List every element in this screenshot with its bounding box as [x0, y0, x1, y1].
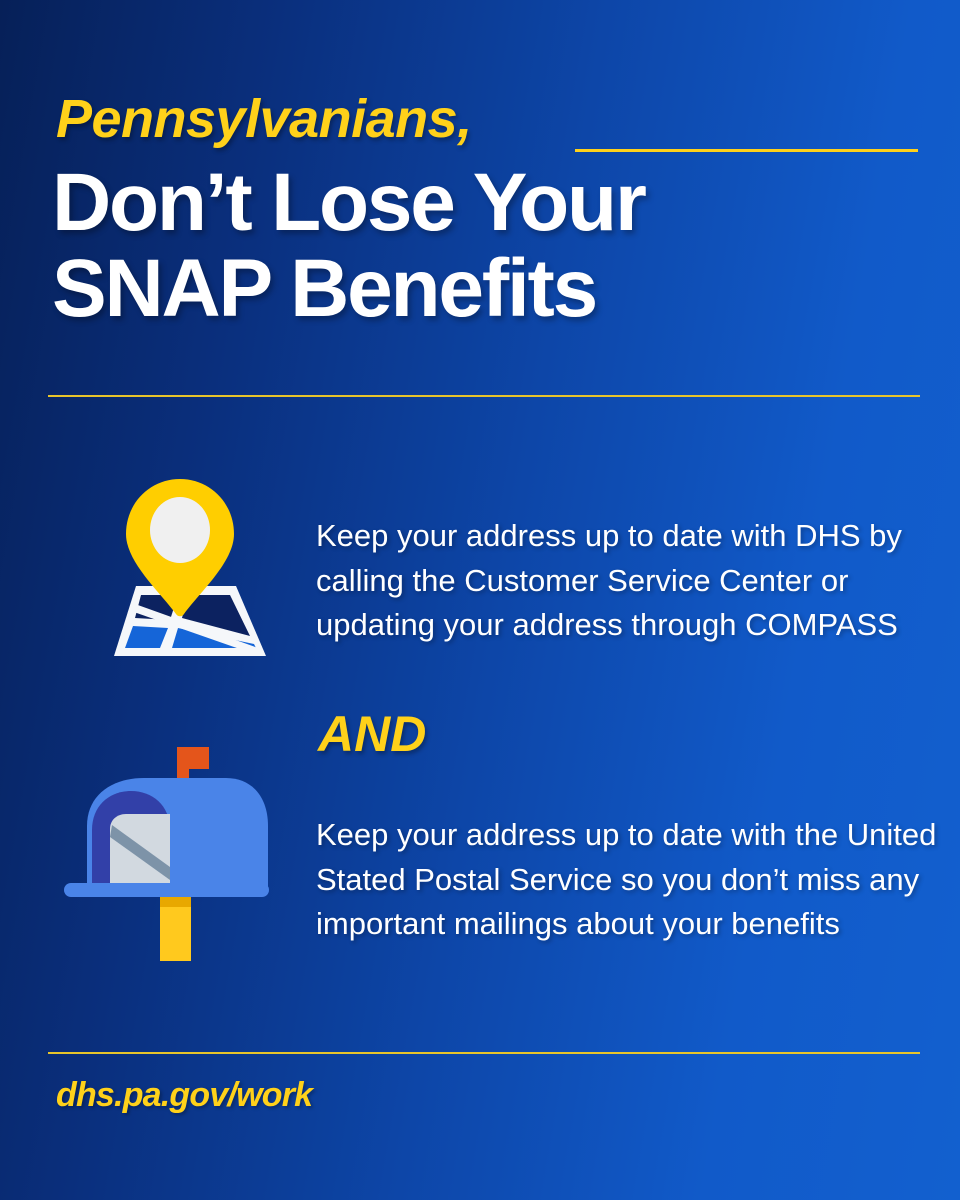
- snap-benefits-poster: Pennsylvanians, Don’t Lose Your SNAP Ben…: [0, 0, 960, 1200]
- headline-line-1: Don’t Lose Your: [52, 160, 932, 246]
- section-2-line-3: important mailings about your benefits: [316, 902, 936, 947]
- and-connector-label: AND: [318, 705, 426, 763]
- kicker-row: Pennsylvanians,: [56, 92, 926, 158]
- headline-line-2: SNAP Benefits: [52, 246, 932, 332]
- section-1-text: Keep your address up to date with DHS by…: [316, 514, 902, 648]
- mailbox-icon: [56, 733, 288, 961]
- divider-bottom: [48, 1052, 920, 1054]
- kicker-rule: [575, 149, 918, 152]
- map-pin-icon: [78, 468, 283, 660]
- divider-top: [48, 395, 920, 397]
- section-1-line-1: Keep your address up to date with DHS by: [316, 514, 902, 559]
- section-1-line-3: updating your address through COMPASS: [316, 603, 902, 648]
- kicker-text: Pennsylvanians,: [56, 92, 472, 146]
- section-1-line-2: calling the Customer Service Center or: [316, 559, 902, 604]
- footer-website-url[interactable]: dhs.pa.gov/work: [56, 1076, 312, 1115]
- section-2-text: Keep your address up to date with the Un…: [316, 813, 936, 947]
- section-2-line-2: Stated Postal Service so you don’t miss …: [316, 858, 936, 903]
- page-title: Don’t Lose Your SNAP Benefits: [52, 160, 932, 332]
- section-2-line-1: Keep your address up to date with the Un…: [316, 813, 936, 858]
